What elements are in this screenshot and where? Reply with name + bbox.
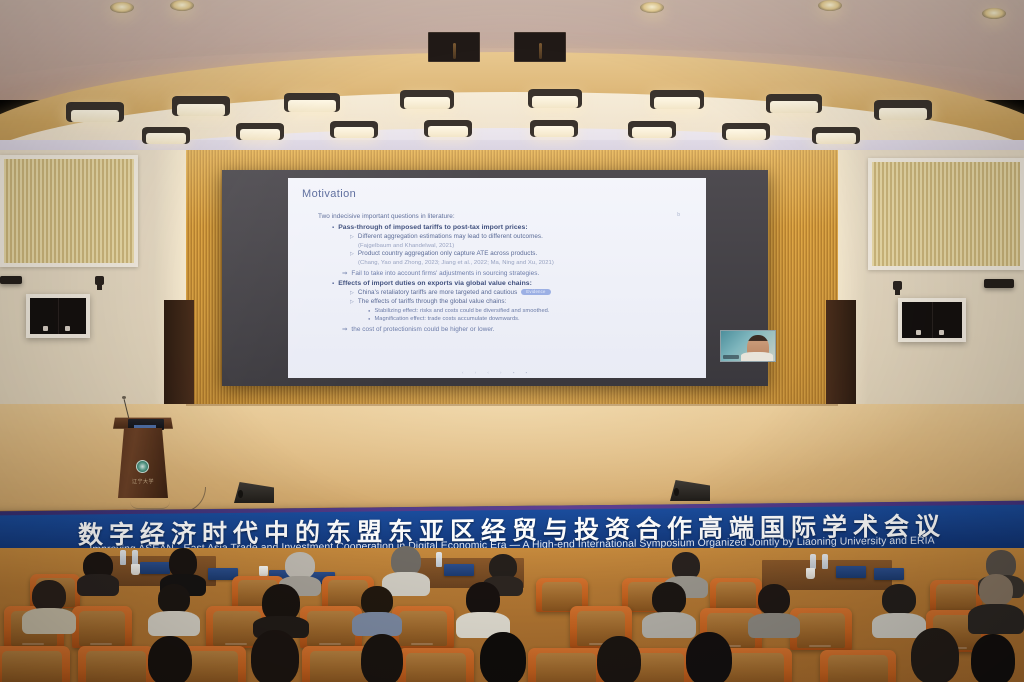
stage-floor-seam: [186, 404, 838, 406]
person-head: [251, 630, 299, 682]
person-body: [77, 574, 119, 596]
wall-display-box-left: [26, 294, 90, 338]
person-head: [158, 584, 190, 614]
person-head: [686, 632, 732, 682]
paper-cup: [131, 564, 140, 575]
name-plate: [836, 566, 866, 578]
slide-body: Two indecisive important questions in li…: [302, 212, 694, 334]
ceiling-light: [528, 89, 582, 108]
person-head: [911, 628, 959, 682]
seat-back: [797, 613, 845, 648]
ceiling-light: [812, 127, 860, 144]
slide-point: Product country aggregation only capture…: [350, 250, 694, 259]
person-head: [597, 636, 641, 682]
slide-footer-nav: ‹ › ‹ › ▪ ▪: [288, 370, 706, 375]
acoustic-panel-left: [0, 155, 138, 267]
seat-number-tag: [809, 645, 831, 647]
person-head: [979, 574, 1013, 606]
webcam-name-label: [723, 355, 739, 359]
person-head: [148, 636, 192, 682]
person-head: [466, 582, 500, 616]
audience-member: [148, 584, 200, 636]
slide-point: China's retaliatory tariffs are more tar…: [350, 289, 694, 298]
person-body: [22, 608, 76, 634]
slide-point-text: China's retaliatory tariffs are more tar…: [358, 289, 517, 296]
seat-number-tag: [90, 643, 112, 645]
slide-citation: (Chang, Yao and Zhong, 2023; Jiang et al…: [358, 259, 694, 267]
ceiling-light: [424, 120, 472, 137]
person-body: [352, 612, 402, 636]
slide-citation: (Fajgelbaum and Khandelwal, 2021): [358, 242, 694, 250]
ceiling-light: [400, 90, 454, 109]
person-body: [148, 611, 200, 636]
slide-heading-2: Effects of import duties on exports via …: [332, 279, 694, 289]
surveillance-camera-right: [893, 281, 902, 290]
slide-subpoint: Magnification effect: trade costs accumu…: [368, 315, 694, 323]
person-head: [480, 632, 526, 682]
wall-speaker-right: [984, 279, 1014, 288]
person-head: [882, 584, 916, 615]
water-bottle: [436, 552, 442, 567]
slide-point: Different aggregation estimations may le…: [350, 233, 694, 242]
water-bottle: [822, 554, 828, 569]
audience-member: [240, 630, 310, 682]
audience-member: [642, 582, 696, 638]
ceiling-light: [650, 90, 704, 109]
podium-label: 辽宁大学: [128, 479, 158, 486]
wall-display-box-right: [898, 298, 966, 342]
seat-number-tag: [319, 643, 341, 645]
webcam-thumbnail: [720, 330, 776, 362]
audience-member: [22, 580, 76, 634]
seat[interactable]: [0, 646, 70, 682]
ceiling-light: [874, 100, 932, 120]
paper-cup: [806, 568, 815, 579]
seat-number-tag: [22, 643, 44, 645]
seat-back: [2, 651, 61, 682]
surveillance-camera-left: [95, 276, 104, 285]
water-bottle: [120, 550, 126, 565]
ceiling-light: [530, 120, 578, 137]
ceiling-light: [330, 121, 378, 138]
remote-participant-body: [741, 352, 773, 361]
microphone-icon: [122, 396, 126, 399]
person-head: [652, 582, 686, 615]
audience-member: [456, 582, 510, 638]
slide-heading-1: Pass-through of imposed tariffs to post-…: [332, 223, 694, 233]
auditorium-scene: Motivation b Two indecisive important qu…: [0, 0, 1024, 682]
slide-evidence-badge: Evidence: [521, 289, 550, 295]
person-head: [285, 552, 315, 579]
name-plate: [444, 564, 474, 576]
audience-member: [138, 636, 202, 682]
slide-title: Motivation: [302, 188, 694, 200]
ceiling-light: [284, 93, 340, 112]
slide-page-mark: b: [677, 212, 680, 218]
projection-screen: Motivation b Two indecisive important qu…: [222, 170, 768, 386]
podium: 辽宁大学: [112, 417, 174, 499]
audience-member: [748, 584, 800, 638]
person-head: [971, 634, 1015, 682]
slide-conclusion: the cost of protectionism could be highe…: [342, 325, 694, 334]
person-head: [758, 584, 790, 615]
person-body: [968, 604, 1024, 634]
audience-member: [968, 574, 1024, 634]
audience-member: [76, 552, 120, 596]
audience-member: [962, 634, 1024, 682]
seat-back: [86, 651, 145, 682]
seat-back: [536, 653, 595, 682]
ceiling-light: [142, 127, 190, 144]
seat-back: [406, 653, 465, 682]
seat-back: [79, 611, 126, 646]
audience-member: [352, 634, 412, 682]
slide-lead-text: Two indecisive important questions in li…: [318, 212, 694, 221]
audience-member: [352, 586, 402, 636]
person-body: [748, 613, 800, 638]
audience-member: [900, 628, 970, 682]
ceiling-light: [172, 96, 230, 116]
floor-cable: [130, 501, 170, 509]
seat-number-tag: [411, 643, 433, 645]
university-emblem-icon: [136, 460, 149, 473]
wall-box-divider: [58, 298, 59, 334]
audience-member: [470, 632, 536, 682]
ceiling-light: [66, 102, 124, 122]
wall-speaker-left: [0, 276, 22, 284]
slide-subpoint: Stabilizing effect: risks and costs coul…: [368, 307, 694, 315]
seat[interactable]: [820, 650, 896, 682]
audience-area: [0, 548, 1024, 682]
presentation-slide: Motivation b Two indecisive important qu…: [288, 178, 706, 378]
water-bottle: [810, 554, 816, 569]
audience-member: [588, 636, 650, 682]
person-head: [361, 634, 403, 682]
ceiling-light: [766, 94, 822, 113]
wall-box-divider: [932, 302, 933, 338]
slide-point: The effects of tariffs through the globa…: [350, 298, 694, 307]
ceiling-light: [722, 123, 770, 140]
name-plate: [874, 568, 904, 580]
audience-member: [676, 632, 742, 682]
seat[interactable]: [72, 606, 132, 648]
water-bottle: [132, 550, 138, 565]
ceiling-light: [628, 121, 676, 138]
seat-back: [307, 611, 355, 646]
slide-conclusion: Fail to take into account firms' adjustm…: [342, 269, 694, 278]
ceiling-light: [236, 123, 284, 140]
seat-back: [828, 655, 887, 682]
acoustic-panel-right: [868, 158, 1024, 270]
